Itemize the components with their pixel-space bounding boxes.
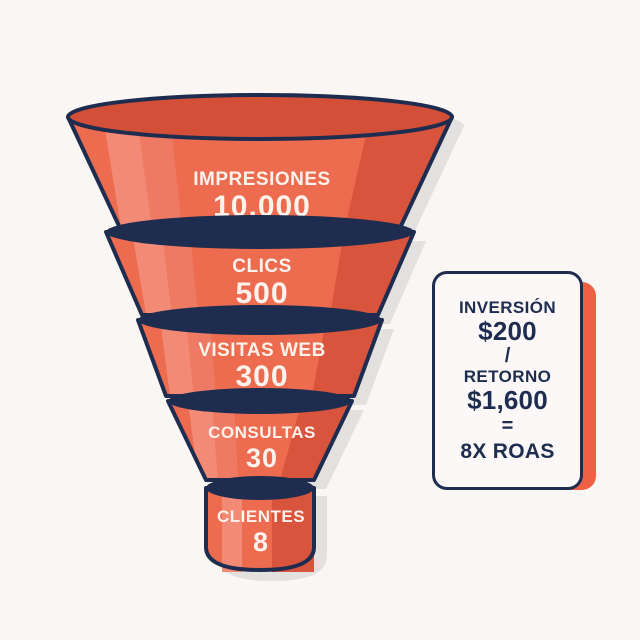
investment-label: INVERSIÓN [459, 298, 556, 317]
segment-label-name-0: IMPRESIONES [193, 169, 330, 190]
segment-label-value-4: 8 [253, 527, 269, 557]
segment-label-name-1: CLICS [232, 256, 292, 277]
roas-card[interactable]: INVERSIÓN $200 / RETORNO $1,600 = 8X ROA… [432, 271, 583, 490]
funnel-segment-clientes[interactable]: CLIENTES 8 [206, 476, 314, 572]
segment-label-name-3: CONSULTAS [208, 423, 316, 442]
divide-operator: / [505, 346, 511, 366]
funnel-segment-visitas-web[interactable]: VISITAS WEB 300 [138, 305, 382, 396]
segment-label-name-4: CLIENTES [217, 507, 305, 526]
funnel-segment-impresiones[interactable]: IMPRESIONES 10,000 [68, 95, 452, 228]
return-value: $1,600 [467, 386, 548, 415]
return-label: RETORNO [464, 367, 552, 386]
roas-result: 8X ROAS [460, 440, 554, 463]
equals-operator: = [502, 416, 514, 436]
segment-label-value-3: 30 [246, 443, 278, 473]
segment-label-name-2: VISITAS WEB [198, 340, 326, 361]
funnel-segment-clics[interactable]: CLICS 500 [106, 215, 414, 315]
infographic-canvas: IMPRESIONES 10,000 CLICS 500 [0, 0, 640, 640]
investment-value: $200 [478, 317, 537, 346]
